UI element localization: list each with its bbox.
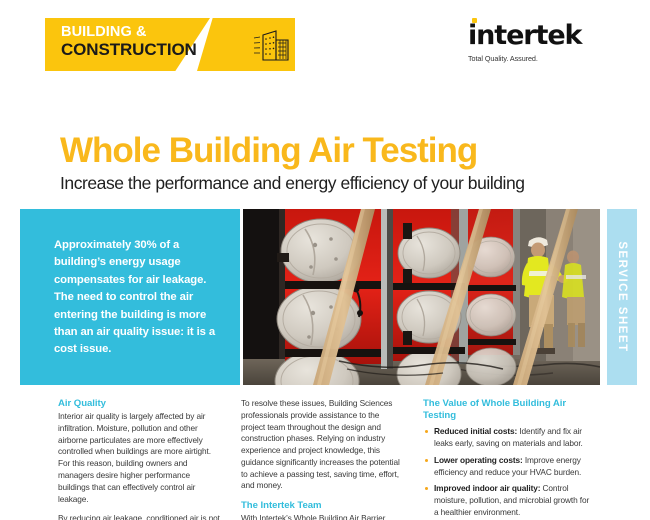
intertek-wordmark-text: intertek [468,20,581,51]
column-1-paragraph-2: By reducing air leakage, conditioned air… [58,513,222,520]
column-air-quality: Air Quality Interior air quality is larg… [58,398,222,520]
column-intertek-team: To resolve these issues, Building Scienc… [241,398,405,520]
title-area: Whole Building Air Testing Increase the … [60,133,640,193]
intertek-logo-dot [472,18,477,23]
list-item: Reduced initial costs: Identify and fix … [423,426,595,450]
value-bullet-list: Reduced initial costs: Identify and fix … [423,426,595,520]
column-3-heading: The Value of Whole Building Air Testing [423,398,595,422]
building-icon [250,27,292,68]
statistic-callout-box: Approximately 30% of a building’s energy… [20,209,240,385]
intertek-tagline: Total Quality. Assured. [468,54,598,63]
column-2-heading: The Intertek Team [241,500,405,512]
bullet-lead: Lower operating costs: [434,455,523,465]
list-item: Lower operating costs: Improve energy ef… [423,455,595,479]
bullet-lead: Improved indoor air quality: [434,483,540,493]
column-1-paragraph-1: Interior air quality is largely affected… [58,411,222,505]
banner-line-2: CONSTRUCTION [61,41,197,58]
column-value-list: The Value of Whole Building Air Testing … [423,398,595,520]
bullet-lead: Reduced initial costs: [434,426,517,436]
banner-line-1: BUILDING & [61,25,197,40]
intertek-logo: intertek Total Quality. Assured. [468,22,598,63]
hero-row: Approximately 30% of a building’s energy… [0,209,650,385]
building-construction-banner: BUILDING & CONSTRUCTION [45,18,295,71]
page-title: Whole Building Air Testing [60,133,640,170]
column-2-paragraph-2: With Intertek’s Whole Building Air Barri… [241,513,405,520]
page-subtitle: Increase the performance and energy effi… [60,174,640,194]
column-1-heading: Air Quality [58,398,222,410]
service-sheet-tab: SERVICE SHEET [607,209,637,385]
column-2-paragraph-1: To resolve these issues, Building Scienc… [241,398,405,492]
intertek-wordmark: intertek [468,22,598,49]
hero-photo [243,209,600,385]
callout-text: Approximately 30% of a building’s energy… [54,237,226,359]
page-header: BUILDING & CONSTRUCTION [0,0,650,100]
service-sheet-label: SERVICE SHEET [616,241,628,352]
body-columns: Air Quality Interior air quality is larg… [0,398,650,520]
list-item: Improved indoor air quality: Control moi… [423,483,595,518]
banner-text: BUILDING & CONSTRUCTION [61,25,197,58]
